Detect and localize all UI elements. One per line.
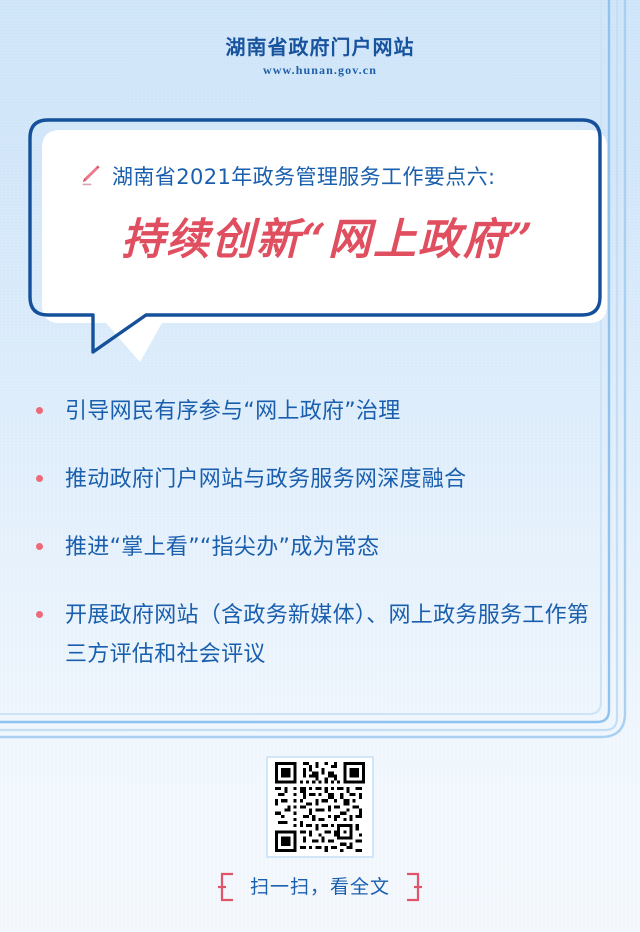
headline-text: 持续创新“网上政府”: [76, 214, 580, 266]
subtitle-row: 湖南省2021年政务管理服务工作要点六:: [76, 156, 580, 196]
list-item: 推进“掌上看”“指尖办”成为常态: [36, 528, 606, 567]
scan-caption-row: 扫一扫，看全文: [0, 872, 640, 902]
bullet-list: 引导网民有序参与“网上政府”治理 推动政府门户网站与政务服务网深度融合 推进“掌…: [36, 392, 606, 703]
bullet-text: 引导网民有序参与“网上政府”治理: [65, 392, 401, 431]
site-title: 湖南省政府门户网站: [0, 34, 640, 60]
subtitle-text: 湖南省2021年政务管理服务工作要点六:: [112, 161, 496, 191]
bullet-dot-icon: [36, 407, 43, 414]
site-url: www.hunan.gov.cn: [0, 63, 640, 77]
bullet-text: 推进“掌上看”“指尖办”成为常态: [65, 528, 379, 567]
pencil-icon: [76, 163, 102, 189]
poster-canvas: 湖南省政府门户网站 www.hunan.gov.cn: [0, 0, 640, 932]
speech-bubble-content: 湖南省2021年政务管理服务工作要点六: 持续创新“网上政府”: [42, 130, 608, 323]
qr-code-icon[interactable]: [266, 756, 374, 858]
bullet-dot-icon: [36, 543, 43, 550]
list-item: 开展政府网站（含政务新媒体）、网上政务服务工作第三方评估和社会评议: [36, 596, 606, 674]
bullet-text: 开展政府网站（含政务新媒体）、网上政务服务工作第三方评估和社会评议: [65, 596, 606, 674]
list-item: 推动政府门户网站与政务服务网深度融合: [36, 460, 606, 499]
scan-bracket-left-icon: [218, 872, 236, 902]
scan-caption-text: 扫一扫，看全文: [250, 874, 390, 900]
bullet-dot-icon: [36, 475, 43, 482]
bullet-dot-icon: [36, 611, 43, 618]
site-header: 湖南省政府门户网站 www.hunan.gov.cn: [0, 34, 640, 77]
scan-bracket-right-icon: [404, 872, 422, 902]
list-item: 引导网民有序参与“网上政府”治理: [36, 392, 606, 431]
bullet-text: 推动政府门户网站与政务服务网深度融合: [65, 460, 466, 499]
